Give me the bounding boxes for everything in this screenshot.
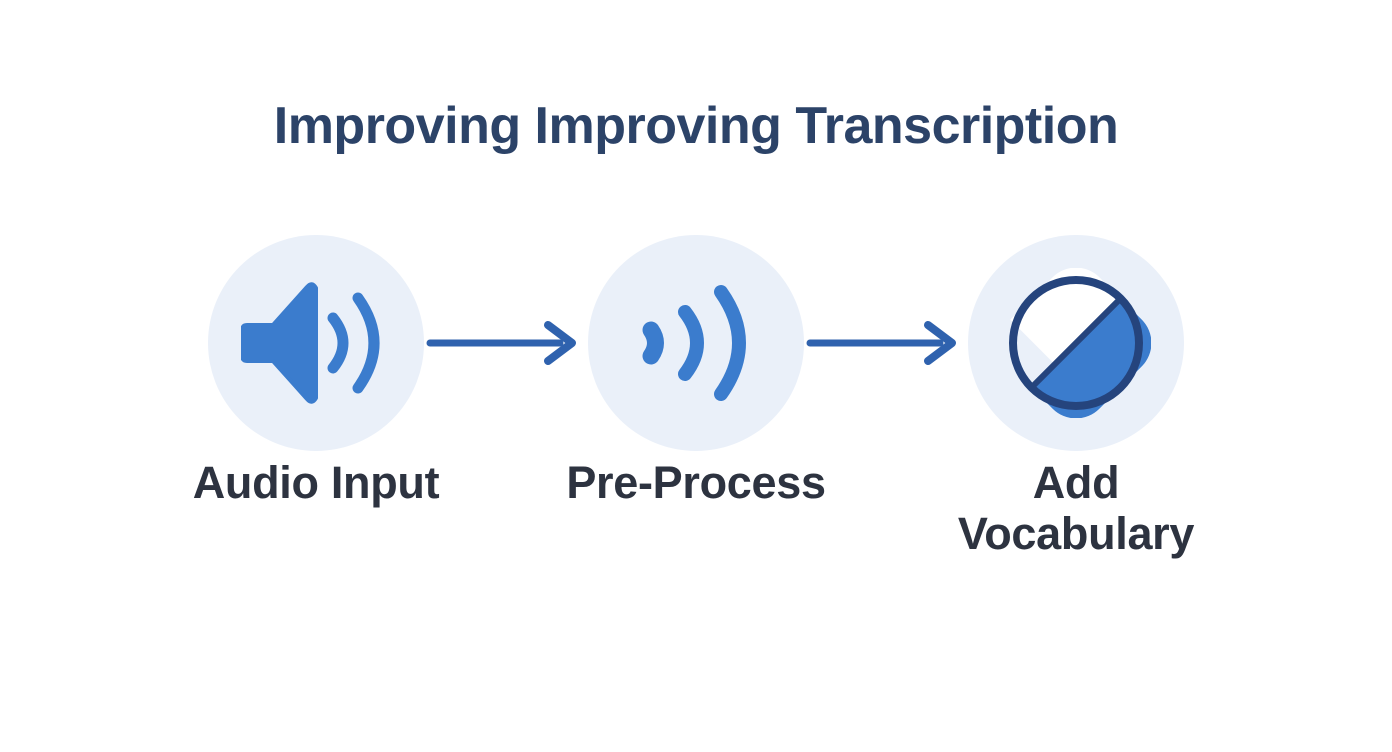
flow-node-label: Audio Input bbox=[181, 457, 451, 508]
arrow-right-icon bbox=[806, 320, 966, 366]
icon-circle bbox=[968, 235, 1184, 451]
flow-node-audio-input[interactable]: Audio Input bbox=[186, 235, 446, 508]
infographic-canvas: Improving Improving Transcription Audio … bbox=[0, 0, 1392, 752]
icon-circle bbox=[208, 235, 424, 451]
pill-capsule-icon bbox=[1001, 268, 1151, 418]
flow-node-pre-process[interactable]: Pre-Process bbox=[566, 235, 826, 508]
process-flow: Audio Input bbox=[96, 235, 1296, 560]
flow-node-label: Pre-Process bbox=[561, 457, 831, 508]
flow-node-label: Add Vocabulary bbox=[941, 457, 1211, 560]
arrow-right-icon bbox=[426, 320, 586, 366]
speaker-volume-icon bbox=[241, 268, 391, 418]
icon-circle bbox=[588, 235, 804, 451]
page-title: Improving Improving Transcription bbox=[0, 98, 1392, 155]
flow-node-add-vocabulary[interactable]: Add Vocabulary bbox=[946, 235, 1206, 560]
signal-waves-icon bbox=[621, 268, 771, 418]
